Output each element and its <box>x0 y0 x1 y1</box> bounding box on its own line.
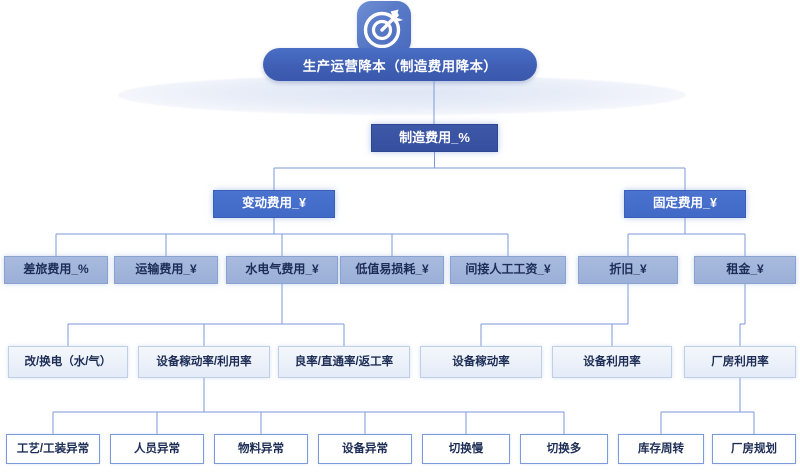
node-label: 折旧_¥ <box>609 263 646 276</box>
node-label: 设备利用率 <box>583 356 641 369</box>
node-label: 固定费用_¥ <box>653 197 717 211</box>
node-label: 改/换电（水/气） <box>25 356 112 369</box>
node-oee3[interactable]: 设备利用率 <box>552 346 672 378</box>
node-e5[interactable]: 切换慢 <box>422 434 510 464</box>
node-e6[interactable]: 切换多 <box>520 434 608 464</box>
node-label: 人员异常 <box>134 443 180 456</box>
node-label: 设备稼动率/利用率 <box>156 356 251 369</box>
node-label: 低值易损耗_¥ <box>355 263 428 276</box>
node-label: 良率/直通率/返工率 <box>295 356 393 369</box>
node-fix[interactable]: 固定费用_¥ <box>624 190 746 218</box>
node-e4[interactable]: 设备异常 <box>318 434 412 464</box>
node-label: 运输费用_¥ <box>135 263 196 276</box>
node-lowval[interactable]: 低值易损耗_¥ <box>340 256 444 284</box>
node-label: 厂房规划 <box>731 443 777 456</box>
node-label: 设备异常 <box>342 443 388 456</box>
node-plant[interactable]: 厂房利用率 <box>684 346 796 378</box>
node-var[interactable]: 变动费用_¥ <box>213 190 335 218</box>
node-e8[interactable]: 厂房规划 <box>712 434 796 464</box>
node-label: 差旅费用_% <box>23 263 88 276</box>
page-title-text: 生产运营降本（制造费用降本） <box>303 55 498 75</box>
node-label: 物料异常 <box>238 443 284 456</box>
node-label: 切换多 <box>547 443 582 456</box>
node-label: 间接人工工资_¥ <box>465 263 550 276</box>
node-yield[interactable]: 良率/直通率/返工率 <box>278 346 410 378</box>
node-label: 设备稼动率 <box>452 356 510 369</box>
page-title: 生产运营降本（制造费用降本） <box>263 48 537 81</box>
node-label: 厂房利用率 <box>711 356 769 369</box>
node-label: 租金_¥ <box>726 263 763 276</box>
node-util[interactable]: 水电气费用_¥ <box>226 256 338 284</box>
node-e3[interactable]: 物料异常 <box>214 434 308 464</box>
diagram-canvas: 生产运营降本（制造费用降本） 制造费用_%变动费用_¥固定费用_¥差旅费用_%运… <box>0 0 800 476</box>
node-oee1[interactable]: 设备稼动率/利用率 <box>138 346 270 378</box>
node-indir[interactable]: 间接人工工资_¥ <box>450 256 566 284</box>
node-label: 工艺/工装异常 <box>17 443 89 456</box>
node-label: 库存周转 <box>638 443 684 456</box>
node-label: 水电气费用_¥ <box>245 263 318 276</box>
node-e1[interactable]: 工艺/工装异常 <box>6 434 100 464</box>
node-trans[interactable]: 运输费用_¥ <box>114 256 218 284</box>
node-depr[interactable]: 折旧_¥ <box>578 256 678 284</box>
node-rent[interactable]: 租金_¥ <box>694 256 796 284</box>
node-label: 变动费用_¥ <box>242 197 306 211</box>
hero-backdrop-ellipse <box>118 75 686 115</box>
node-root[interactable]: 制造费用_% <box>371 124 498 152</box>
node-travel[interactable]: 差旅费用_% <box>4 256 108 284</box>
node-e2[interactable]: 人员异常 <box>110 434 204 464</box>
node-e7[interactable]: 库存周转 <box>618 434 704 464</box>
node-swap[interactable]: 改/换电（水/气） <box>8 346 128 378</box>
node-oee2[interactable]: 设备稼动率 <box>420 346 542 378</box>
node-label: 切换慢 <box>449 443 484 456</box>
target-arrow-icon <box>357 1 411 55</box>
node-label: 制造费用_% <box>399 131 470 145</box>
